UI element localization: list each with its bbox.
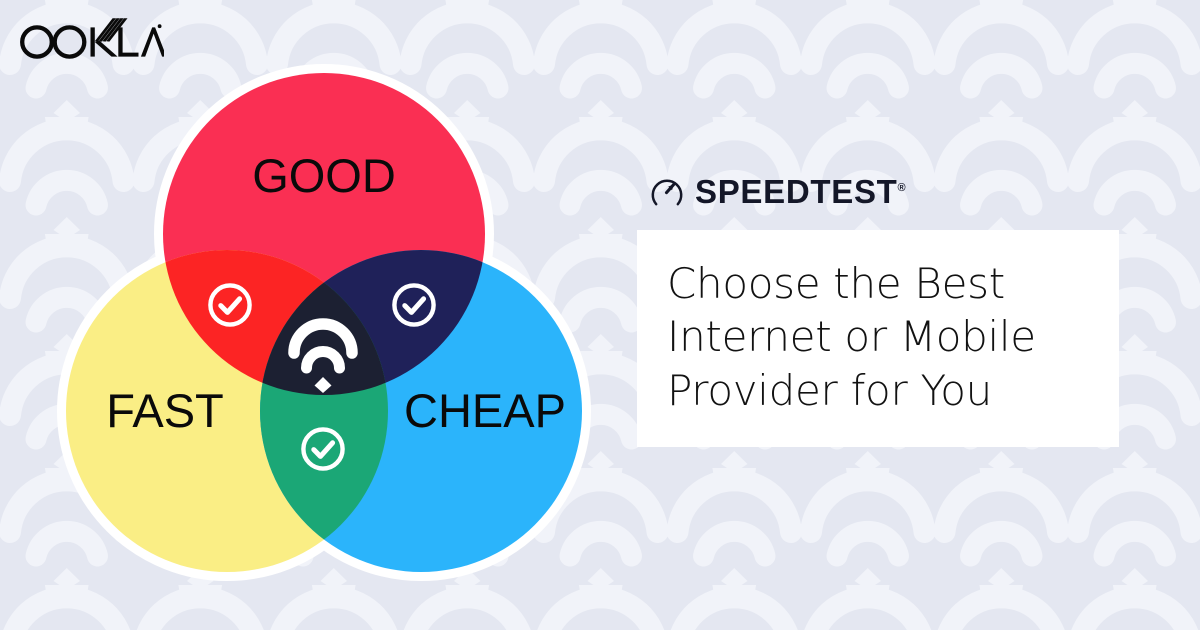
speedometer-gauge-icon	[650, 174, 684, 208]
speedtest-logo[interactable]: SPEEDTEST®	[637, 168, 1119, 214]
headline-line-1: Choose the Best	[667, 259, 1005, 308]
right-content-column: SPEEDTEST® Choose the BestInternet or Mo…	[637, 168, 1119, 447]
venn-label-good: GOOD	[252, 149, 396, 202]
headline-line-2: Internet or Mobile	[667, 312, 1036, 361]
headline-line-3: Provider for You	[667, 366, 992, 415]
promo-banner: GOOD FAST CHEAP	[0, 0, 1200, 630]
page-title: Choose the BestInternet or MobileProvide…	[667, 257, 1089, 417]
venn-diagram: GOOD FAST CHEAP	[46, 52, 606, 582]
venn-label-fast: FAST	[106, 384, 224, 437]
headline-card: Choose the BestInternet or MobileProvide…	[637, 230, 1119, 447]
registered-trademark-mark: ®	[898, 182, 907, 194]
speedtest-wordmark-text: SPEEDTEST	[695, 173, 898, 210]
speedtest-wordmark: SPEEDTEST®	[695, 175, 906, 208]
venn-label-cheap: CHEAP	[404, 384, 566, 437]
